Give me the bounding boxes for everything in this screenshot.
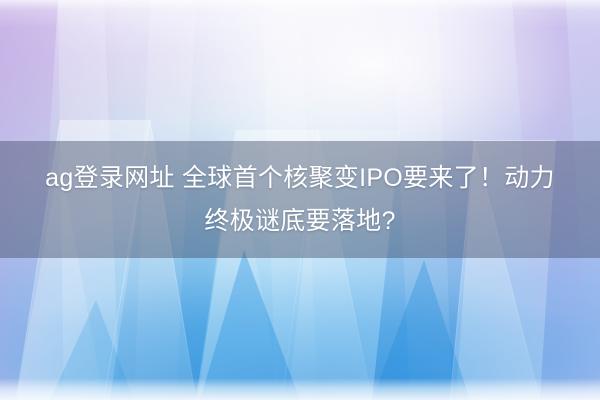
banner: ag登录网址 全球首个核聚变IPO要来了！动力 终极谜底要落地?: [0, 0, 600, 400]
headline-line-1: ag登录网址 全球首个核聚变IPO要来了！动力: [45, 157, 555, 200]
headline-overlay-band: ag登录网址 全球首个核聚变IPO要来了！动力 终极谜底要落地?: [0, 141, 600, 258]
headline-line-2: 终极谜底要落地?: [204, 200, 395, 243]
